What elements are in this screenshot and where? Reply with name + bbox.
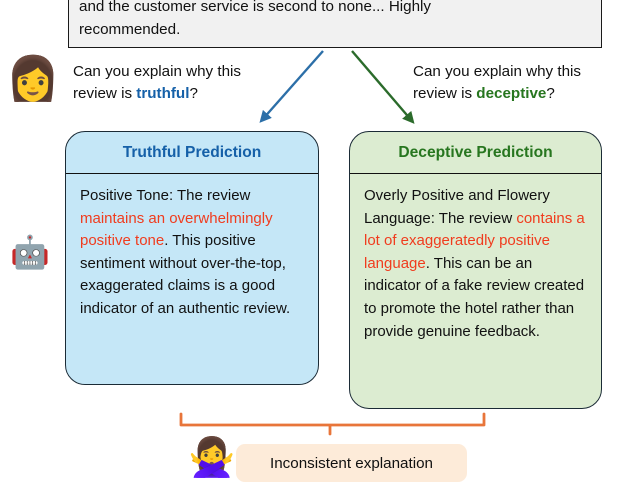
question-deceptive: Can you explain why this review is decep… [413,61,608,105]
review-excerpt-text: and the customer service is second to no… [79,0,593,41]
bracket-path [181,414,484,434]
truthful-prediction-body: Positive Tone: The review maintains an o… [66,174,318,329]
question-truthful-suffix: ? [189,85,197,102]
deceptive-prediction-card: Deceptive Prediction Overly Positive and… [349,131,602,409]
arrow-to-deceptive [352,51,412,121]
question-truthful: Can you explain why this review is truth… [73,61,248,105]
nope-emoji-icon: 🙅‍♀️ [188,439,235,477]
question-deceptive-suffix: ? [546,85,554,102]
question-deceptive-keyword: deceptive [476,85,546,102]
review-excerpt-box: and the customer service is second to no… [68,0,602,48]
truthful-prediction-header: Truthful Prediction [66,132,318,174]
inconsistent-explanation-label: Inconsistent explanation [236,444,467,482]
deceptive-prediction-body: Overly Positive and Flowery Language: Th… [350,174,601,351]
user-emoji-icon: 👩 [6,58,60,101]
figure-canvas: and the customer service is second to no… [0,0,618,486]
robot-emoji-icon: 🤖 [10,236,50,268]
truthful-prediction-card: Truthful Prediction Positive Tone: The r… [65,131,319,385]
deceptive-prediction-header: Deceptive Prediction [350,132,601,174]
question-truthful-keyword: truthful [136,85,189,102]
truthful-body-part1: Positive Tone: The review [80,187,250,204]
arrow-to-truthful [262,51,323,120]
